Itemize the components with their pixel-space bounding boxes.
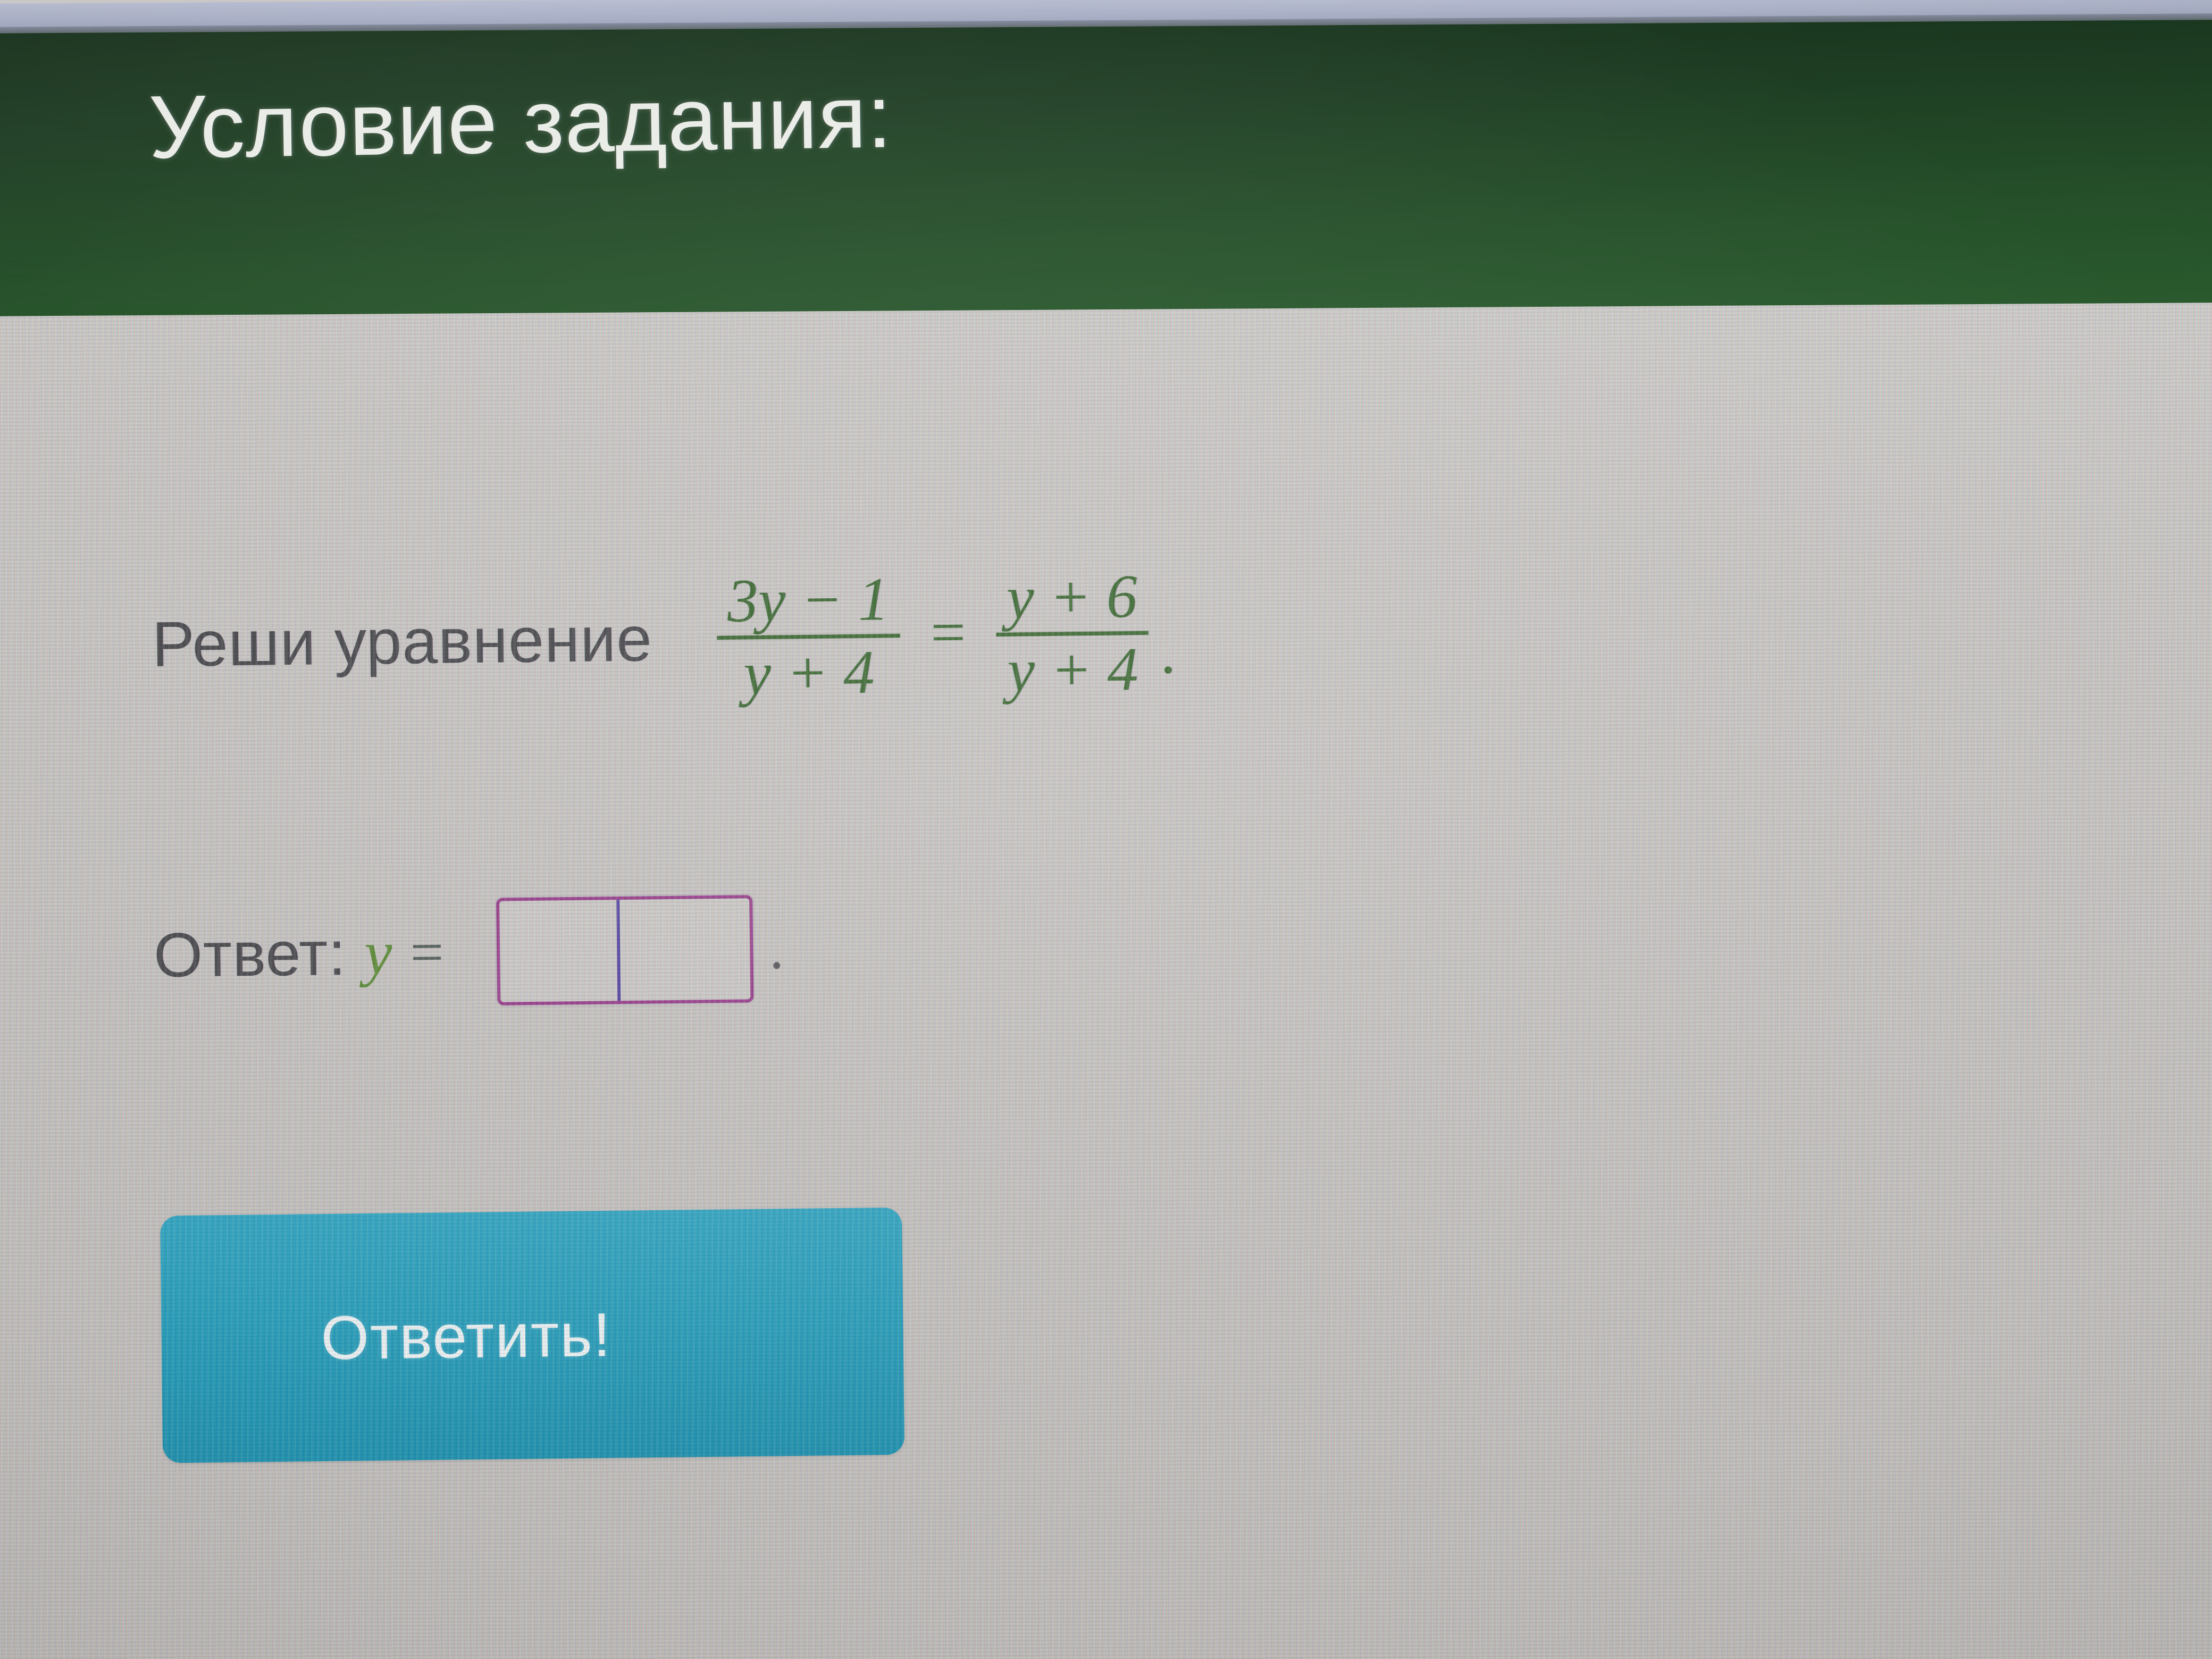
task-content: Реши уравнение 3y − 1 y + 4 = y + 6 y + … (0, 303, 2212, 1659)
answer-equals-sign: = (410, 918, 445, 987)
fraction-right: y + 6 y + 4 (989, 562, 1155, 706)
answer-variable: y (364, 917, 392, 990)
equation-equals-sign: = (906, 597, 991, 669)
fraction-right-denominator: y + 4 (996, 635, 1149, 706)
task-statement: Реши уравнение 3y − 1 y + 4 = y + 6 y + … (151, 562, 1176, 715)
answer-row: Ответ: y = . (153, 895, 784, 1009)
equation-period: . (1154, 617, 1176, 704)
task-prompt-label: Реши уравнение (152, 602, 653, 681)
fraction-left: 3y − 1 y + 4 (710, 565, 907, 709)
lcd-panel: Условие задания: Реши уравнение 3y − 1 y… (0, 0, 2212, 1659)
photographed-screen: Условие задания: Реши уравнение 3y − 1 y… (0, 0, 2212, 1659)
answer-input[interactable] (496, 895, 753, 1005)
page-title: Условие задания: (148, 65, 893, 179)
equation: 3y − 1 y + 4 = y + 6 y + 4 . (710, 562, 1176, 709)
page-header: Условие задания: (0, 20, 2212, 321)
fraction-left-numerator: 3y − 1 (716, 565, 900, 636)
answer-input-cell-right[interactable] (619, 898, 750, 1001)
answer-label: Ответ: (154, 917, 347, 992)
answer-input-cell-left[interactable] (499, 900, 621, 1002)
fraction-left-denominator: y + 4 (733, 638, 885, 709)
fraction-right-numerator: y + 6 (995, 562, 1148, 633)
submit-answer-button[interactable]: Ответить! (160, 1208, 904, 1463)
answer-period: . (769, 915, 784, 982)
